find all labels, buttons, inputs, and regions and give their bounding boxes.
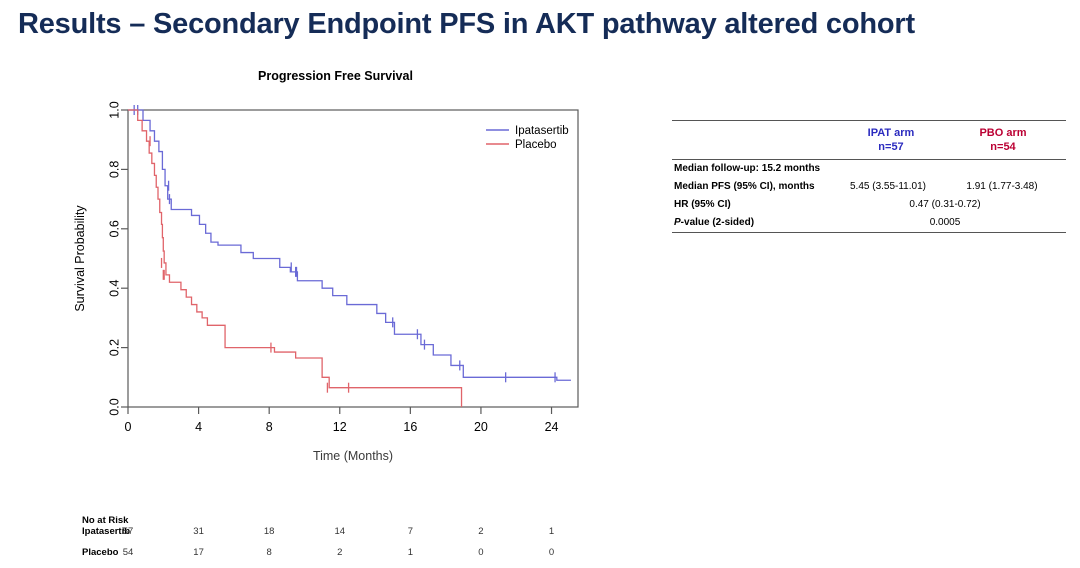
- risk-cell: 18: [257, 526, 281, 537]
- risk-cell: 7: [398, 526, 422, 537]
- x-tick-label: 4: [195, 420, 202, 434]
- risk-cell: 14: [328, 526, 352, 537]
- y-axis-label: Survival Probability: [73, 205, 87, 312]
- results-cell-pbo: 1.91 (1.77-3.48): [946, 181, 1058, 192]
- results-table-header: IPAT arm n=57 PBO arm n=54: [672, 121, 1066, 159]
- column-header-pbo-name: PBO arm: [950, 126, 1056, 140]
- risk-table-row: Placebo541782100: [82, 547, 602, 568]
- risk-cell: 2: [328, 547, 352, 558]
- y-tick-label: 0.6: [107, 220, 121, 237]
- results-row-label: Median follow-up: 15.2 months: [674, 163, 820, 174]
- x-axis-label: Time (Months): [313, 449, 393, 463]
- risk-cell: 8: [257, 547, 281, 558]
- risk-cell: 54: [116, 547, 140, 558]
- no-at-risk-table: No at Risk Ipatasertib57311814721Placebo…: [82, 515, 602, 568]
- results-table-body: Median follow-up: 15.2 monthsMedian PFS …: [672, 160, 1066, 232]
- plot-frame: [128, 110, 578, 407]
- column-header-pbo: PBO arm n=54: [950, 126, 1056, 154]
- risk-cell: 57: [116, 526, 140, 537]
- results-summary-table: IPAT arm n=57 PBO arm n=54 Median follow…: [672, 120, 1066, 233]
- risk-cell: 0: [540, 547, 564, 558]
- km-curve-ipatasertib: [128, 110, 571, 380]
- x-tick-label: 0: [125, 420, 132, 434]
- legend-label-placebo: Placebo: [515, 139, 557, 151]
- y-tick-label: 0.2: [107, 339, 121, 356]
- page-title: Results – Secondary Endpoint PFS in AKT …: [18, 8, 1062, 41]
- risk-table-row: Ipatasertib57311814721: [82, 526, 602, 547]
- table-rule-bottom: [672, 232, 1066, 233]
- risk-cell: 2: [469, 526, 493, 537]
- column-header-ipat-name: IPAT arm: [838, 126, 944, 140]
- column-header-pbo-n: n=54: [950, 140, 1056, 154]
- y-tick-label: 0.0: [107, 398, 121, 415]
- x-tick-label: 20: [474, 420, 488, 434]
- x-tick-label: 8: [266, 420, 273, 434]
- risk-cell: 1: [540, 526, 564, 537]
- results-row-label: Median PFS (95% CI), months: [674, 181, 815, 192]
- x-tick-label: 16: [403, 420, 417, 434]
- results-table-row: Median follow-up: 15.2 months: [672, 160, 1066, 178]
- results-row-label: P-value (2-sided): [674, 217, 754, 228]
- risk-table-heading: No at Risk: [82, 515, 602, 526]
- km-chart-panel: Progression Free Survival 048121620240.0…: [0, 60, 620, 527]
- km-curve-placebo: [128, 110, 462, 407]
- chart-legend: IpatasertibPlacebo: [486, 125, 569, 151]
- results-cell-ipat: 5.45 (3.55-11.01): [832, 181, 944, 192]
- results-row-label: HR (95% CI): [674, 199, 731, 210]
- x-tick-label: 24: [545, 420, 559, 434]
- km-plot-svg: 048121620240.00.20.40.60.81.0Survival Pr…: [0, 60, 620, 480]
- results-cell-span: 0.0005: [832, 217, 1058, 228]
- risk-row-label: Placebo: [82, 547, 118, 558]
- results-table-row: Median PFS (95% CI), months5.45 (3.55-11…: [672, 178, 1066, 196]
- risk-cell: 31: [187, 526, 211, 537]
- y-tick-label: 1.0: [107, 101, 121, 118]
- legend-label-ipatasertib: Ipatasertib: [515, 125, 569, 137]
- results-cell-span: 0.47 (0.31-0.72): [832, 199, 1058, 210]
- column-header-ipat: IPAT arm n=57: [838, 126, 944, 154]
- y-tick-label: 0.4: [107, 279, 121, 296]
- risk-cell: 0: [469, 547, 493, 558]
- risk-cell: 17: [187, 547, 211, 558]
- column-header-ipat-n: n=57: [838, 140, 944, 154]
- risk-cell: 1: [398, 547, 422, 558]
- x-tick-label: 12: [333, 420, 347, 434]
- results-table-row: P-value (2-sided)0.0005: [672, 214, 1066, 232]
- results-table-row: HR (95% CI)0.47 (0.31-0.72): [672, 196, 1066, 214]
- y-tick-label: 0.8: [107, 161, 121, 178]
